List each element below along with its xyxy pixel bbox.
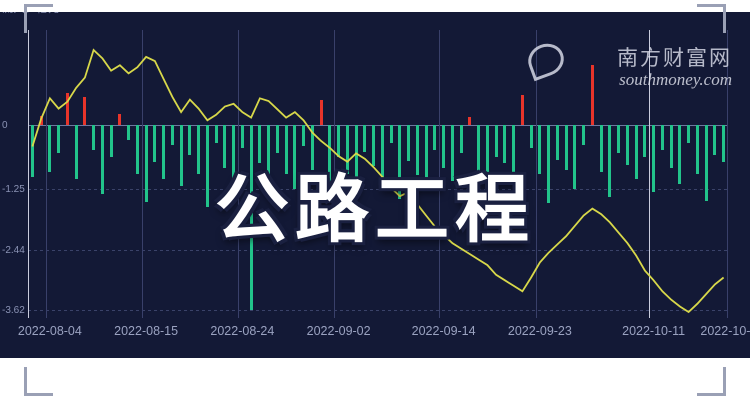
- y-axis-tick-label: 0: [2, 120, 8, 131]
- x-axis-tick-label: 2022-10-20: [700, 324, 750, 338]
- chart-panel: 流入：亿元 0-1.25-2.44-3.62 2022-08-042022-08…: [0, 12, 750, 358]
- x-axis-tick-label: 2022-09-02: [307, 324, 371, 338]
- plot-area: 0-1.25-2.44-3.62: [28, 30, 728, 318]
- y-axis-tick-label: -3.62: [2, 305, 25, 316]
- x-axis-tick-label: 2022-09-14: [412, 324, 476, 338]
- y-axis-tick-label: -1.25: [2, 184, 25, 195]
- x-axis-tick-label: 2022-10-11: [622, 324, 685, 338]
- frame-corner-bottom-right: [697, 367, 726, 396]
- y-axis-tick-label: -2.44: [2, 245, 25, 256]
- frame-corner-top-left: [24, 4, 53, 33]
- frame-corner-bottom-left: [24, 367, 53, 396]
- frame-corner-top-right: [697, 4, 726, 33]
- index-line-chart: [28, 30, 728, 318]
- x-axis-tick-label: 2022-09-23: [508, 324, 572, 338]
- chart-screenshot: 流入：亿元 0-1.25-2.44-3.62 2022-08-042022-08…: [0, 0, 750, 400]
- x-axis-tick-label: 2022-08-15: [114, 324, 178, 338]
- x-axis-tick-label: 2022-08-04: [18, 324, 82, 338]
- x-axis: 2022-08-042022-08-152022-08-242022-09-02…: [0, 324, 750, 344]
- x-axis-tick-label: 2022-08-24: [210, 324, 274, 338]
